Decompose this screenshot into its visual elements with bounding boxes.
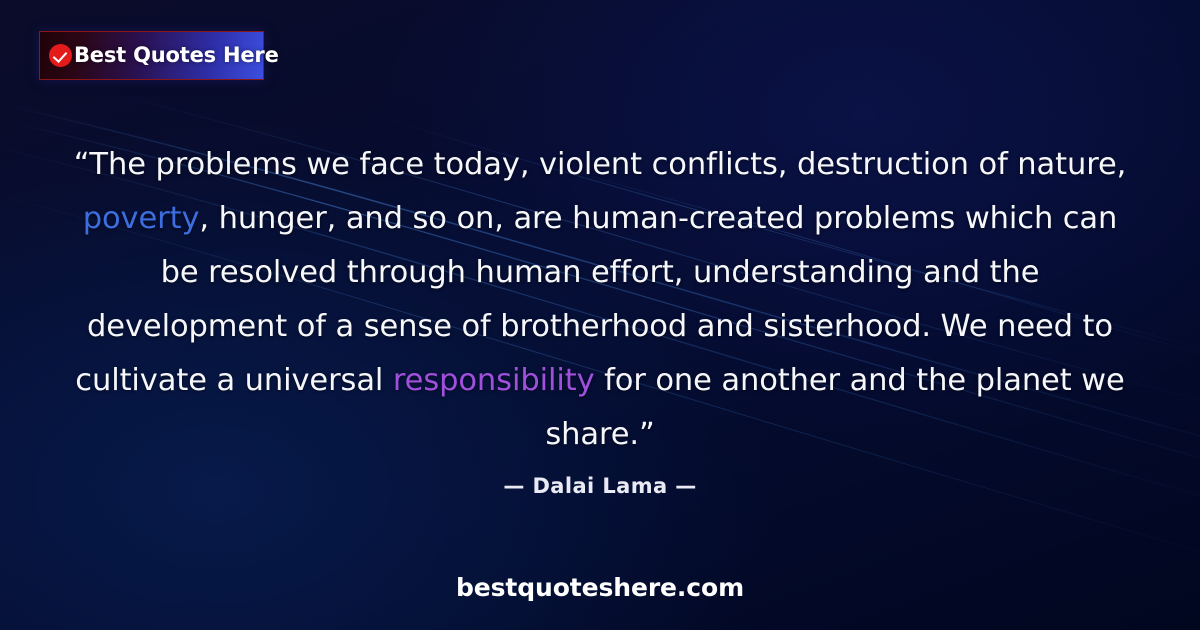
quote-highlight-responsibility: responsibility <box>393 363 595 398</box>
quote-part-3: for one another and the planet we share.… <box>545 363 1124 452</box>
quote-highlight-poverty: poverty <box>83 201 200 236</box>
quote-text: “The problems we face today, violent con… <box>60 138 1140 462</box>
quote-author: — Dalai Lama — <box>0 474 1200 498</box>
brand-badge[interactable]: Best Quotes Here <box>39 31 264 80</box>
site-url: bestquoteshere.com <box>0 573 1200 602</box>
quote-part-1: “The problems we face today, violent con… <box>74 147 1127 182</box>
check-circle-icon <box>49 44 72 67</box>
quote-card: Best Quotes Here “The problems we face t… <box>0 0 1200 630</box>
brand-badge-label: Best Quotes Here <box>74 45 279 66</box>
